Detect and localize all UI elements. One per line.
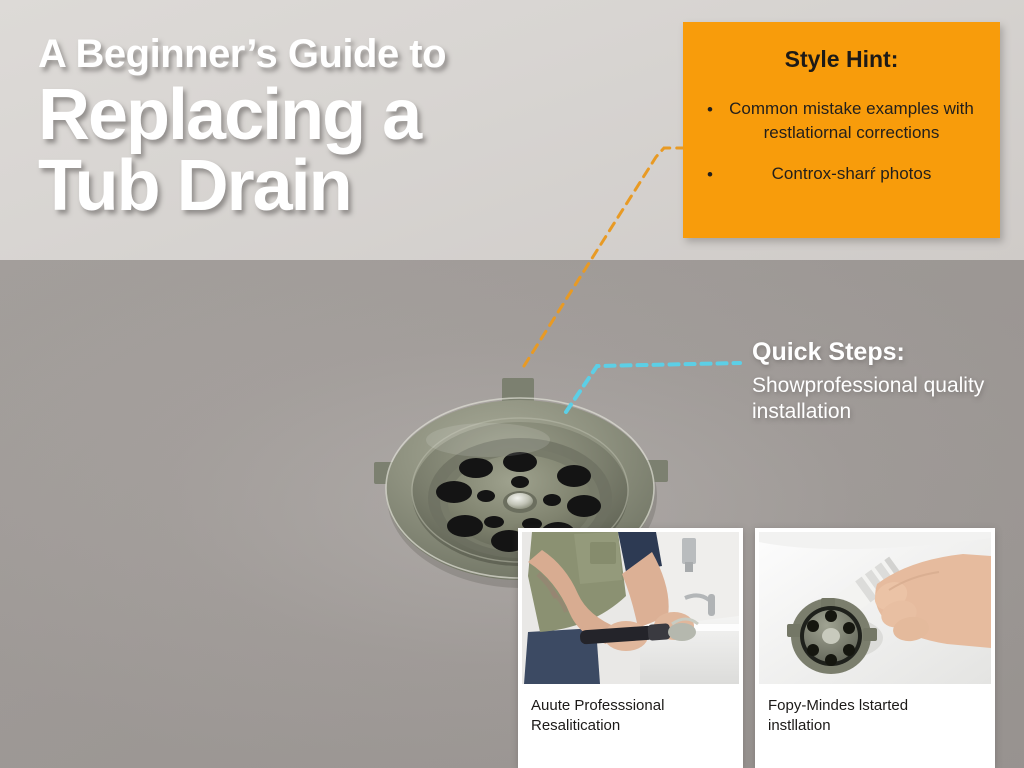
bullet-icon: • xyxy=(707,163,713,187)
style-hint-list: • Common mistake examples with restlatio… xyxy=(701,97,982,186)
page-title: A Beginner’s Guide to Replacing a Tub Dr… xyxy=(38,34,658,221)
photo-card-drain-tool[interactable]: Fopy-Mindes lstarted instllation xyxy=(755,528,995,768)
strainer-hole xyxy=(447,515,483,537)
strainer-hole xyxy=(557,465,591,487)
caption-line-2: instllation xyxy=(768,716,982,736)
quick-steps-block: Quick Steps: Showprofessional quality in… xyxy=(752,338,1002,426)
style-hint-title: Style Hint: xyxy=(701,46,982,73)
strainer-hole xyxy=(484,516,504,528)
caption-line-1: Auute Professsional xyxy=(531,696,730,716)
strainer-hole xyxy=(567,495,601,517)
strainer-hole xyxy=(511,476,529,488)
list-item-label: Controx-sharŕ photos xyxy=(772,164,932,183)
caption-line-1: Fopy-Mindes lstarted xyxy=(768,696,982,716)
style-hint-callout: Style Hint: • Common mistake examples wi… xyxy=(683,22,1000,238)
strainer-hole xyxy=(436,481,472,503)
quick-steps-title: Quick Steps: xyxy=(752,338,1002,367)
drain-center-screw xyxy=(507,493,533,509)
strainer-hole xyxy=(459,458,493,478)
infographic-poster: A Beginner’s Guide to Replacing a Tub Dr… xyxy=(0,0,1024,768)
title-line-2: Replacing a xyxy=(38,80,658,151)
quick-steps-body: Showprofessional quality installation xyxy=(752,373,1002,426)
title-line-3: Tub Drain xyxy=(38,151,658,222)
list-item-label: Common mistake examples with restlatiorn… xyxy=(729,99,974,142)
list-item: • Common mistake examples with restlatio… xyxy=(701,97,982,145)
bullet-icon: • xyxy=(707,98,713,122)
strainer-hole xyxy=(477,490,495,502)
photo-plumber-installing-drain xyxy=(522,532,739,684)
title-line-1: A Beginner’s Guide to xyxy=(38,34,658,74)
photo-caption-plumber: Auute Professsional Resalitication xyxy=(522,684,739,736)
photo-card-plumber[interactable]: Auute Professsional Resalitication xyxy=(518,528,743,768)
list-item: • Controx-sharŕ photos xyxy=(701,162,982,186)
strainer-hole xyxy=(543,494,561,506)
photo-caption-drain-tool: Fopy-Mindes lstarted instllation xyxy=(759,684,991,736)
caption-line-2: Resalitication xyxy=(531,716,730,736)
photo-hand-inserting-drain-tool xyxy=(759,532,991,684)
